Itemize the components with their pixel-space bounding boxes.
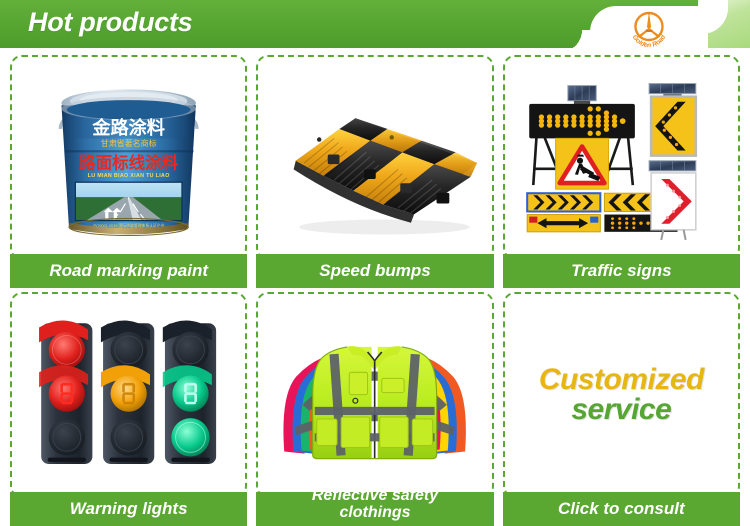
card-label-text: Reflective safety clothings <box>312 488 438 522</box>
service-text: service <box>539 395 704 425</box>
paint-bucket-image: 金路涂料 甘肃省著名商标 路面标线涂料 LU MIAN BIAO XIAN TU… <box>8 55 249 254</box>
card-label[interactable]: Speed bumps <box>256 254 493 288</box>
product-card-click-to-consult[interactable]: Customized service Click to consult <box>501 292 742 525</box>
svg-text:金路涂料: 金路涂料 <box>91 117 165 139</box>
speed-bump-image <box>254 55 495 254</box>
hot-products-banner: Hot products Gold <box>0 0 750 521</box>
product-card-warning-lights[interactable]: Warning lights <box>8 292 249 525</box>
traffic-light-image <box>8 292 249 491</box>
card-label[interactable]: Road marking paint <box>10 254 247 288</box>
golden-road-logo[interactable]: Golden Road <box>626 9 672 48</box>
product-card-reflective-safety-clothings[interactable]: Reflective safety clothings <box>254 292 495 525</box>
product-card-speed-bumps[interactable]: Speed bumps <box>254 55 495 288</box>
card-label[interactable]: Traffic signs <box>503 254 740 288</box>
traffic-signs-image <box>501 55 742 254</box>
safety-vest-image <box>254 292 495 491</box>
product-card-road-marking-paint[interactable]: 金路涂料 甘肃省著名商标 路面标线涂料 LU MIAN BIAO XIAN TU… <box>8 55 249 288</box>
svg-text:LU MIAN BIAO XIAN TU LIAO: LU MIAN BIAO XIAN TU LIAO <box>88 173 170 179</box>
svg-text:甘肃省著名商标: 甘肃省著名商标 <box>101 138 157 148</box>
page-title: Hot products <box>28 7 192 38</box>
logo-panel: Golden Road <box>590 6 708 48</box>
svg-text:路面标线涂料: 路面标线涂料 <box>79 152 179 172</box>
customized-service-text: Customized service <box>501 292 742 491</box>
product-card-traffic-signs[interactable]: Traffic signs <box>501 55 742 288</box>
product-grid: 金路涂料 甘肃省著名商标 路面标线涂料 LU MIAN BIAO XIAN TU… <box>0 48 750 521</box>
banner-header: Hot products Gold <box>0 0 750 48</box>
customized-text: Customized <box>539 365 704 395</box>
